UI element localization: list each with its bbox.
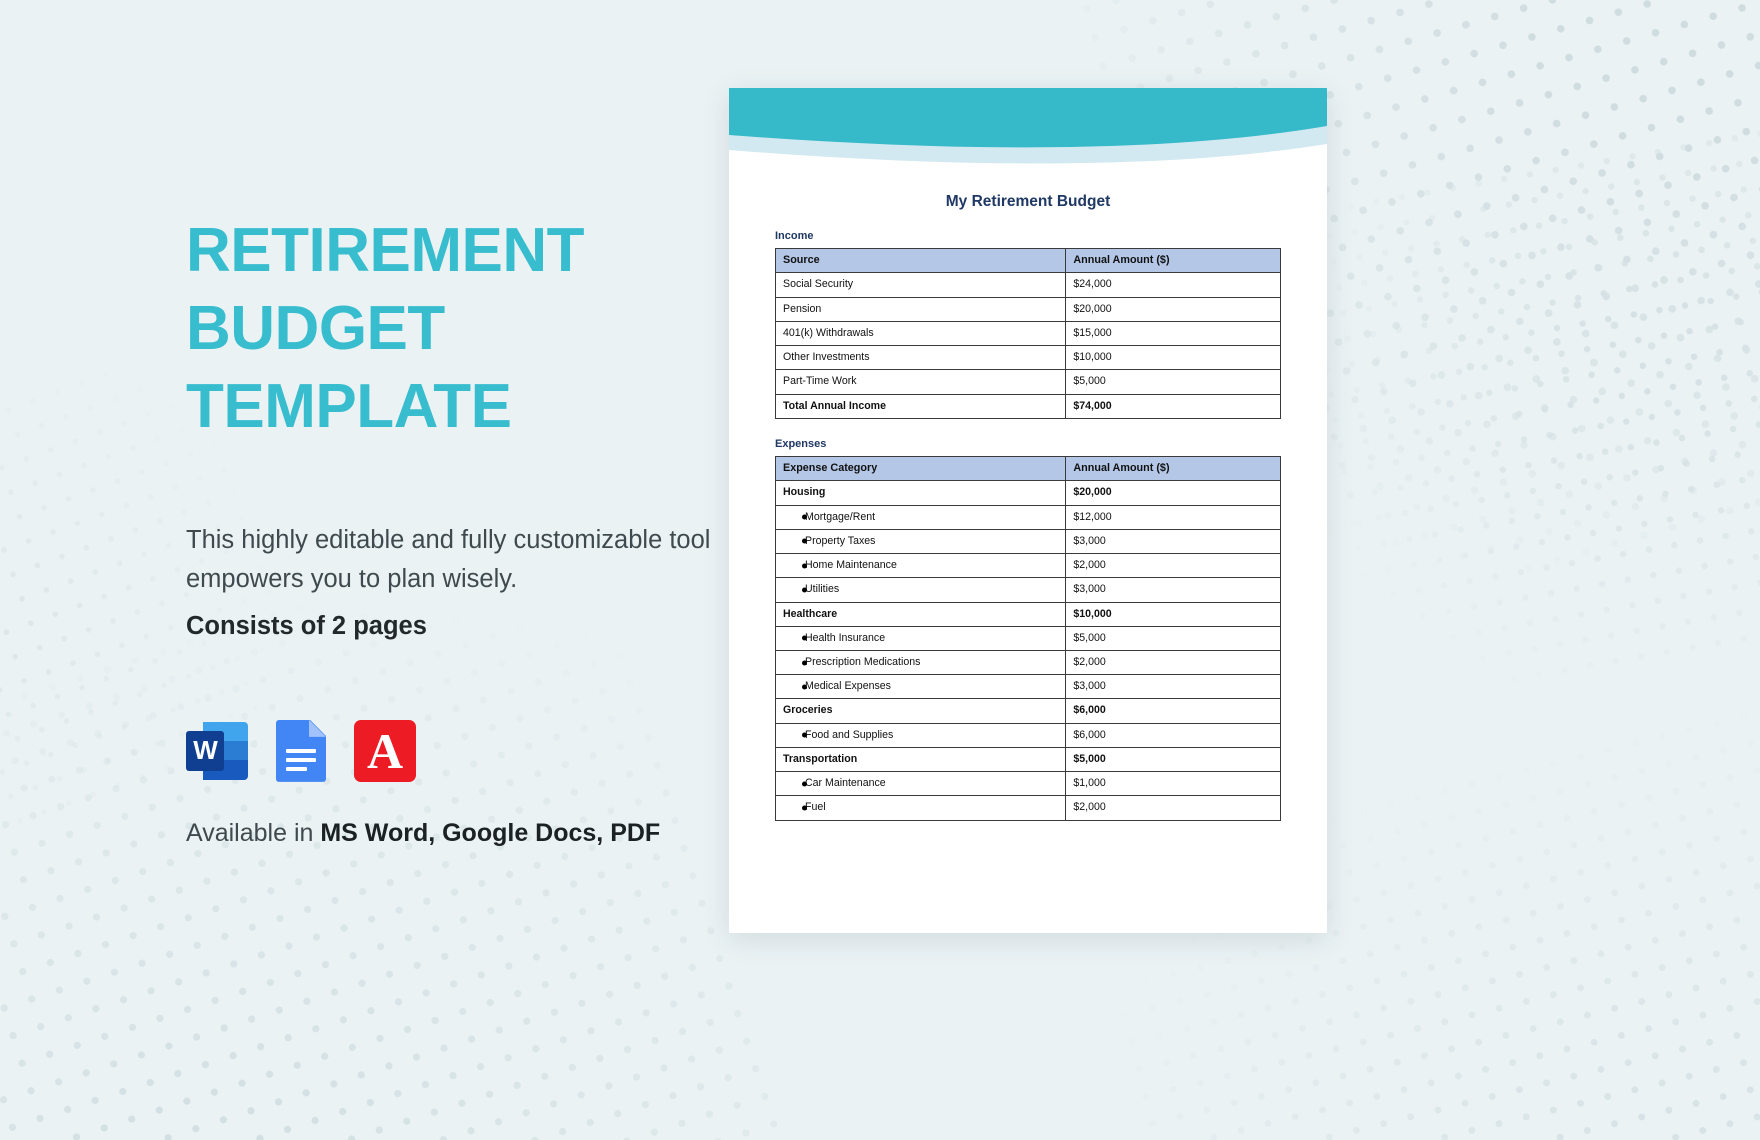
income-table-label: Other Investments: [776, 346, 1066, 370]
expenses-table-label-text: Home Maintenance: [783, 559, 897, 572]
availability-formats: MS Word, Google Docs, PDF: [320, 819, 660, 847]
expenses-table-label-text: Health Insurance: [783, 632, 885, 645]
expenses-table-amount: $5,000: [1066, 626, 1281, 650]
expenses-table-row: Mortgage/Rent$12,000: [776, 505, 1281, 529]
expenses-table-row: Home Maintenance$2,000: [776, 554, 1281, 578]
google-docs-icon-line: [286, 749, 316, 753]
expenses-table-row: Health Insurance$5,000: [776, 626, 1281, 650]
expenses-table-amount: $6,000: [1066, 723, 1281, 747]
income-table-label: 401(k) Withdrawals: [776, 321, 1066, 345]
income-table-row: Pension$20,000: [776, 297, 1281, 321]
google-docs-icon-line: [286, 758, 316, 762]
word-icon-letter: W: [186, 731, 224, 771]
income-table-amount: $5,000: [1066, 370, 1281, 394]
income-table-amount: $15,000: [1066, 321, 1281, 345]
expenses-table-label-text: Food and Supplies: [783, 729, 893, 742]
promo-page-count: Consists of 2 pages: [186, 612, 806, 641]
expenses-table-amount: $6,000: [1066, 699, 1281, 723]
income-table-row: Part-Time Work$5,000: [776, 370, 1281, 394]
expenses-table-amount: $20,000: [1066, 481, 1281, 505]
expenses-table-row: Housing$20,000: [776, 481, 1281, 505]
expenses-table-label: Mortgage/Rent: [776, 505, 1066, 529]
document-header-wave: [729, 88, 1327, 198]
document-title: My Retirement Budget: [775, 193, 1281, 211]
expenses-table-label: Healthcare: [776, 602, 1066, 626]
expenses-table-label: Transportation: [776, 747, 1066, 771]
expenses-table-row: Prescription Medications$2,000: [776, 651, 1281, 675]
bullet-icon: [802, 733, 807, 738]
expenses-table-row: Property Taxes$3,000: [776, 529, 1281, 553]
document-body: My Retirement Budget Income Source Annua…: [729, 188, 1327, 821]
expenses-table-amount: $2,000: [1066, 651, 1281, 675]
expenses-table-amount: $5,000: [1066, 747, 1281, 771]
promo-panel: RETIREMENT BUDGET TEMPLATE This highly e…: [186, 212, 806, 848]
income-table-label: Total Annual Income: [776, 394, 1066, 418]
expenses-table-amount: $10,000: [1066, 602, 1281, 626]
format-icon-row: W A: [186, 720, 806, 782]
document-preview[interactable]: My Retirement Budget Income Source Annua…: [729, 88, 1327, 933]
expenses-table-amount: $12,000: [1066, 505, 1281, 529]
expenses-table-row: Transportation$5,000: [776, 747, 1281, 771]
pdf-icon[interactable]: A: [354, 720, 416, 782]
expenses-table-label: Car Maintenance: [776, 772, 1066, 796]
expenses-table-label: Home Maintenance: [776, 554, 1066, 578]
expenses-table-amount: $2,000: [1066, 554, 1281, 578]
expenses-table-row: Fuel$2,000: [776, 796, 1281, 820]
income-table-header-row: Source Annual Amount ($): [776, 249, 1281, 273]
bullet-icon: [802, 515, 807, 520]
income-col-source: Source: [776, 249, 1066, 273]
expenses-table-label-text: Property Taxes: [783, 535, 875, 548]
expenses-table-row: Healthcare$10,000: [776, 602, 1281, 626]
bullet-icon: [802, 587, 807, 592]
expenses-table-label: Property Taxes: [776, 529, 1066, 553]
expenses-section-label: Expenses: [775, 438, 1281, 450]
bullet-icon: [802, 684, 807, 689]
google-docs-icon-fold: [309, 720, 326, 737]
income-table: Source Annual Amount ($) Social Security…: [775, 248, 1281, 419]
income-table-amount: $20,000: [1066, 297, 1281, 321]
income-table-row: 401(k) Withdrawals$15,000: [776, 321, 1281, 345]
page-title-line-2: BUDGET: [186, 290, 806, 368]
expenses-table-label: Fuel: [776, 796, 1066, 820]
expenses-table-amount: $3,000: [1066, 578, 1281, 602]
expenses-table-label: Prescription Medications: [776, 651, 1066, 675]
income-col-amount: Annual Amount ($): [1066, 249, 1281, 273]
expenses-table-row: Groceries$6,000: [776, 699, 1281, 723]
page-title-line-3: TEMPLATE: [186, 368, 806, 446]
expenses-table-amount: $2,000: [1066, 796, 1281, 820]
pdf-icon-glyph: A: [354, 720, 416, 782]
expenses-table-label: Utilities: [776, 578, 1066, 602]
expenses-table-label: Groceries: [776, 699, 1066, 723]
expenses-table-amount: $3,000: [1066, 675, 1281, 699]
expenses-table-header-row: Expense Category Annual Amount ($): [776, 456, 1281, 480]
page-title: RETIREMENT BUDGET TEMPLATE: [186, 212, 806, 446]
expenses-table-label-text: Utilities: [783, 583, 839, 596]
bullet-icon: [802, 781, 807, 786]
expenses-table-label-text: Medical Expenses: [783, 680, 891, 693]
income-table-row: Social Security$24,000: [776, 273, 1281, 297]
expenses-table-label: Housing: [776, 481, 1066, 505]
expenses-table-row: Food and Supplies$6,000: [776, 723, 1281, 747]
bullet-icon: [802, 539, 807, 544]
income-table-label: Pension: [776, 297, 1066, 321]
income-table-row: Total Annual Income$74,000: [776, 394, 1281, 418]
expenses-col-category: Expense Category: [776, 456, 1066, 480]
halftone-dots-right: [1259, 119, 1760, 721]
availability-prefix: Available in: [186, 819, 320, 847]
expenses-table-amount: $1,000: [1066, 772, 1281, 796]
promo-description: This highly editable and fully customiza…: [186, 521, 776, 599]
expenses-col-amount: Annual Amount ($): [1066, 456, 1281, 480]
google-docs-icon[interactable]: [270, 720, 332, 782]
expenses-table-row: Car Maintenance$1,000: [776, 772, 1281, 796]
expenses-table-label-text: Mortgage/Rent: [783, 511, 875, 524]
income-table-amount: $74,000: [1066, 394, 1281, 418]
income-table-label: Part-Time Work: [776, 370, 1066, 394]
income-table-amount: $24,000: [1066, 273, 1281, 297]
expenses-table-label: Food and Supplies: [776, 723, 1066, 747]
income-table-row: Other Investments$10,000: [776, 346, 1281, 370]
ms-word-icon[interactable]: W: [186, 720, 248, 782]
expenses-table-label: Health Insurance: [776, 626, 1066, 650]
bullet-icon: [802, 563, 807, 568]
expenses-table-row: Utilities$3,000: [776, 578, 1281, 602]
income-table-amount: $10,000: [1066, 346, 1281, 370]
income-table-label: Social Security: [776, 273, 1066, 297]
availability-line: Available in MS Word, Google Docs, PDF: [186, 819, 806, 848]
expenses-table-amount: $3,000: [1066, 529, 1281, 553]
bullet-icon: [802, 806, 807, 811]
page-title-line-1: RETIREMENT: [186, 212, 806, 290]
expenses-table: Expense Category Annual Amount ($) Housi…: [775, 456, 1281, 821]
income-section-label: Income: [775, 230, 1281, 242]
google-docs-icon-line: [286, 767, 307, 771]
bullet-icon: [802, 660, 807, 665]
expenses-table-row: Medical Expenses$3,000: [776, 675, 1281, 699]
expenses-table-label: Medical Expenses: [776, 675, 1066, 699]
expenses-table-label-text: Car Maintenance: [783, 777, 886, 790]
bullet-icon: [802, 636, 807, 641]
